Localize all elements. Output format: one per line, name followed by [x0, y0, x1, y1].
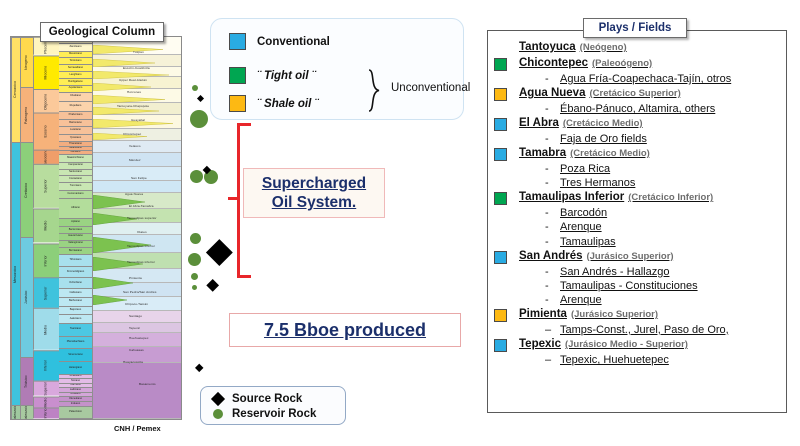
source-rock-diamond-icon [211, 392, 225, 406]
formation-label: Cahuasas [129, 349, 144, 352]
geo-cell: Aaleniano [59, 315, 93, 324]
play-header: Tantoyuca(Neógeno) [494, 41, 780, 56]
play-entry[interactable]: El Abra(Cretácico Medio)-Faja de Oro fie… [494, 117, 780, 146]
formation-label: San Felipe [131, 177, 147, 180]
play-swatch-icon [494, 309, 507, 322]
geo-cell: Hauteriviano [59, 234, 93, 241]
geo-cell: Bathoniano [59, 298, 93, 307]
play-entry[interactable]: Tantoyuca(Neógeno) [494, 41, 780, 56]
bracket-bottom-arm [237, 275, 251, 278]
field-name: Tamaulipas [560, 235, 616, 249]
geological-column-body: CenozoicoMesozoicoPaleozoico NeogenoPale… [10, 36, 182, 420]
supercharged-bracket [228, 123, 244, 278]
field-dash: - [545, 102, 560, 116]
field-dash: - [545, 265, 560, 279]
source-rock-marker [195, 364, 204, 373]
formation-label: Pimienta [129, 277, 142, 280]
formation-label: Tamaulipas superior [127, 217, 157, 220]
slide-root: Geological Column CenozoicoMesozoicoPale… [0, 0, 800, 446]
field-row: -Ébano-Pánuco, Altamira, others [545, 102, 780, 116]
field-dash: - [545, 206, 560, 220]
play-swatch-icon [494, 148, 507, 161]
formation-label: Velasco [129, 145, 141, 148]
geo-cell: Superior [33, 277, 59, 308]
geo-cell: Albiano [59, 199, 93, 220]
geo-cell: Lutetiano [59, 127, 93, 135]
play-swatch-icon [494, 58, 507, 71]
field-name: Ébano-Pánuco, Altamira, others [560, 102, 715, 116]
reservoir-rock-marker [190, 233, 201, 244]
geo-cell: Ypresiano [59, 135, 93, 143]
formation-label: Santiago [129, 315, 142, 318]
geological-column: Geological Column CenozoicoMesozoicoPale… [10, 22, 182, 420]
legend-item-reservoir-rock: Reservoir Rock [213, 408, 316, 420]
column-systems: NeogenoPaleogenoCretácicoJurásicoTriásic… [20, 37, 33, 419]
field-dash: - [545, 176, 560, 190]
formation-label: Tamaulipas inferior [127, 245, 155, 248]
play-header: Chicontepec(Paleoógeno) [494, 57, 780, 72]
shale-oil-swatch-icon [229, 95, 246, 112]
geo-cell: Bartoniano [59, 120, 93, 127]
field-dash: - [545, 132, 560, 146]
formation-label: Huayacocotla [123, 361, 143, 364]
formation-label: Tuxpan [133, 51, 144, 54]
lithostratigraphy-wedge [93, 107, 159, 115]
field-row: -Faja de Oro fields [545, 132, 780, 146]
geo-cell: Berriasiano [59, 248, 93, 256]
formation-label: Méndez [129, 159, 141, 162]
geo-cell: Tithoniano [59, 255, 93, 267]
supercharged-line-2: Oil System. [272, 193, 356, 212]
geo-cell: Calloviano [59, 289, 93, 298]
formation-label: Tamaulipas inferior [127, 261, 155, 264]
play-entry[interactable]: Tamabra(Cretácico Medio)-Poza Rica-Tres … [494, 147, 780, 190]
play-swatch-icon [494, 339, 507, 352]
lithostratigraphy-wedge [93, 83, 151, 91]
play-age: (Jurásico Superior) [571, 309, 658, 320]
field-name: Tres Hermanos [560, 176, 635, 190]
legend-label-conventional: Conventional [257, 36, 330, 48]
play-name: Agua Nueva(Cretácico Superior) [519, 87, 681, 99]
supercharged-oil-system-callout: Supercharged Oil System. [243, 168, 385, 218]
geo-cell: Aquitaniano [59, 86, 93, 93]
formation-label: Chipoco-Tamán [125, 303, 148, 306]
rock-type-legend: Source Rock Reservoir Rock [200, 386, 346, 425]
geological-column-credit: CNH / Pemex [114, 424, 161, 433]
geo-cell: Oxfordiano [59, 278, 93, 289]
play-name: Tamabra(Cretácico Medio) [519, 147, 650, 159]
geo-cell: Sinemuriano [59, 349, 93, 362]
reservoir-rock-marker [190, 170, 203, 183]
formation-label: Agua Nueva [125, 193, 143, 196]
bracket-vertical-line [237, 123, 240, 278]
field-name: Faja de Oro fields [560, 132, 647, 146]
oil-type-legend: Conventional ¨ Tight oil ¨ ¨ Shale oil ¨… [210, 18, 464, 120]
geo-cell: Campaniano [59, 163, 93, 170]
legend-item-tight-oil: ¨ Tight oil ¨ [229, 67, 316, 84]
play-swatch-icon [494, 251, 507, 264]
formation-label: Otates [137, 231, 147, 234]
play-header: Tamaulipas Inferior(Cretácico Inferior) [494, 191, 780, 206]
play-header: Pimienta(Jurásico Superior) [494, 308, 780, 323]
field-dash: – [545, 323, 560, 337]
geo-cell: Cenozoico [11, 37, 20, 142]
geo-cell: Santoniano [59, 170, 93, 177]
formation-label: San Pedro/San Andrés [123, 291, 156, 294]
play-header: Agua Nueva(Cretácico Superior) [494, 87, 780, 102]
column-eras: CenozoicoMesozoicoPaleozoico [11, 37, 20, 419]
geo-cell: Toarciano [59, 324, 93, 337]
play-header: San Andrés(Jurásico Superior) [494, 250, 780, 265]
field-name: Agua Fría-Coapechaca-Tajín, otros [560, 72, 731, 86]
formation-label: Tantoyuca-Chapopote [117, 105, 149, 108]
geo-cell: Mesozoico [11, 142, 20, 405]
geo-cell: Paleozoico [59, 407, 93, 419]
formation-label: Escolín-Coatzintla [123, 67, 150, 70]
formation-label: Guayabal [131, 119, 145, 122]
play-name: San Andrés(Jurásico Superior) [519, 250, 674, 262]
geo-cell: Zancleano [59, 44, 93, 52]
lithostratigraphy-band [93, 363, 181, 419]
play-name: Pimienta(Jurásico Superior) [519, 308, 658, 320]
play-age: (Neógeno) [580, 42, 627, 53]
carbonate-reef-wedge [93, 277, 133, 289]
field-name: San Andrés - Hallazgo [560, 265, 669, 279]
geo-cell: Tortoniano [59, 58, 93, 65]
lithostratigraphy-wedge [93, 45, 163, 54]
play-header: Tepexic(Jurásico Medio - Superior) [494, 338, 780, 353]
geo-cell: Chattiano [59, 93, 93, 102]
supercharged-line-1: Supercharged [262, 174, 366, 193]
play-entry[interactable]: Tamaulipas Inferior(Cretácico Inferior)-… [494, 191, 780, 248]
play-age: (Cretácico Inferior) [628, 192, 713, 203]
field-dash: - [545, 72, 560, 86]
geo-cell: Messiniano [59, 52, 93, 59]
field-row: -Arenque [545, 220, 780, 234]
field-row: –Tamps-Const., Jurel, Paso de Oro, [545, 323, 780, 337]
geo-cell: Hetangiano [59, 362, 93, 375]
formation-label: Tepexic [129, 327, 140, 330]
reservoir-rock-marker [188, 253, 201, 266]
legend-label-source-rock: Source Rock [232, 393, 302, 405]
bracket-middle-tick [228, 197, 239, 200]
play-entry[interactable]: Chicontepec(Paleoógeno)-Agua Fría-Coapec… [494, 57, 780, 86]
conventional-swatch-icon [229, 33, 246, 50]
play-name: Tamaulipas Inferior(Cretácico Inferior) [519, 191, 713, 203]
field-dash: – [545, 353, 560, 367]
geo-cell: Paleogeno [20, 87, 33, 142]
produced-volume-text: 7.5 Bboe produced [264, 320, 426, 341]
geo-cell: Coniaciano [59, 176, 93, 183]
produced-volume-callout: 7.5 Bboe produced [229, 313, 461, 347]
geo-cell: Burdigaliano [59, 79, 93, 86]
geo-cell: Superior [33, 164, 59, 208]
legend-item-shale-oil: ¨ Shale oil ¨ [229, 95, 318, 112]
geological-column-title: Geological Column [40, 22, 164, 42]
geo-cell: Turoniano [59, 183, 93, 191]
field-row: -San Andrés - Hallazgo [545, 265, 780, 279]
play-swatch-icon [494, 192, 507, 205]
plays-fields-panel: Tantoyuca(Neógeno)Chicontepec(Paleoógeno… [487, 30, 787, 413]
play-age: (Jurásico Medio - Superior) [565, 339, 688, 350]
legend-item-source-rock: Source Rock [213, 393, 302, 405]
play-header: El Abra(Cretácico Medio) [494, 117, 780, 132]
geo-cell: Valanginiano [59, 241, 93, 248]
play-name: Chicontepec(Paleoógeno) [519, 57, 652, 69]
source-rock-marker [197, 95, 204, 102]
field-name: Tamaulipas - Constituciones [560, 279, 698, 293]
lithostratigraphy-wedge [93, 95, 165, 104]
play-age: (Cretácico Medio) [570, 148, 650, 159]
carbonate-reef-wedge [93, 295, 127, 305]
formation-label: El Abra-Tamabra [129, 205, 154, 208]
geo-cell: Medio [33, 308, 59, 350]
column-lithostratigraphy: TuxpanEscolín-CoatzintlaUpper Real-Alazá… [93, 37, 181, 419]
geo-cell: Oligoceno [33, 89, 59, 113]
geo-cell: Superior [33, 381, 59, 396]
geo-cell: Paleozoico [20, 405, 33, 419]
geo-cell: Medio [33, 396, 59, 407]
reservoir-rock-marker [191, 273, 198, 280]
field-name: Tepexic, Huehuetepec [560, 353, 669, 367]
legend-item-conventional: Conventional [229, 33, 330, 50]
geo-cell: Maastrichtiano [59, 155, 93, 163]
geo-cell: Inferior [33, 350, 59, 381]
field-dash: - [545, 235, 560, 249]
geo-cell: Barremiano [59, 227, 93, 234]
field-name: Tamps-Const., Jurel, Paso de Oro, [560, 323, 729, 337]
reservoir-rock-marker [190, 110, 208, 128]
field-row: -Tamaulipas - Constituciones [545, 279, 780, 293]
play-swatch-icon [494, 88, 507, 101]
geo-cell: Cretácico [20, 142, 33, 237]
play-name: Tantoyuca(Neógeno) [519, 41, 627, 53]
reservoir-rock-marker [192, 85, 198, 91]
play-age: (Paleoógeno) [592, 58, 652, 69]
geo-cell: Paleozoico [11, 405, 20, 419]
field-row: -Tamaulipas [545, 235, 780, 249]
play-swatch-placeholder [494, 42, 507, 55]
field-row: -Agua Fría-Coapechaca-Tajín, otros [545, 72, 780, 86]
field-row: -Tres Hermanos [545, 176, 780, 190]
legend-label-unconventional: Unconventional [391, 82, 470, 94]
play-swatch-icon [494, 118, 507, 131]
field-name: Arenque [560, 293, 602, 307]
field-row: -Barcodón [545, 206, 780, 220]
unconventional-brace-icon [366, 69, 382, 112]
play-age: (Jurásico Superior) [586, 251, 673, 262]
field-name: Barcodón [560, 206, 607, 220]
play-entry[interactable]: Pimienta(Jurásico Superior)–Tamps-Const.… [494, 308, 780, 337]
play-age: (Cretácico Medio) [563, 118, 643, 129]
field-dash: - [545, 162, 560, 176]
geo-cell: Pliensbachiano [59, 337, 93, 350]
formation-label: Horcones [127, 91, 141, 94]
geo-cell: Rupeliano [59, 102, 93, 112]
geo-cell: Neogeno [20, 37, 33, 87]
play-name: Tepexic(Jurásico Medio - Superior) [519, 338, 688, 350]
geo-cell: Medio [33, 208, 59, 242]
geo-cell: Kimmeridgiano [59, 267, 93, 278]
geo-cell: Langhiano [59, 72, 93, 79]
geo-cell: Eoceno [33, 113, 59, 150]
field-dash: - [545, 220, 560, 234]
geo-cell: Mioceno [33, 55, 59, 89]
field-name: Poza Rica [560, 162, 610, 176]
geo-cell: Jurásico [20, 237, 33, 357]
formation-label: Upper Real-Alazán [119, 79, 147, 82]
play-name: El Abra(Cretácico Medio) [519, 117, 643, 129]
geo-cell: Priaboniano [59, 112, 93, 120]
rock-marker-column [182, 85, 228, 385]
plays-fields-title: Plays / Fields [583, 18, 687, 38]
column-series: PliocenoMiocenoOligocenoEocenoPaleocenoS… [33, 37, 59, 419]
field-dash: - [545, 279, 560, 293]
geo-cell: Serravalliano [59, 65, 93, 72]
geo-cell: Cenomaniano [59, 191, 93, 199]
geo-cell: Paleoceno [33, 150, 59, 165]
field-dash: - [545, 293, 560, 307]
play-age: (Cretácico Superior) [589, 88, 680, 99]
geo-cell: Triásico [20, 357, 33, 405]
legend-label-tight-oil: ¨ Tight oil ¨ [257, 70, 316, 82]
formation-label: Huehuetepec [129, 337, 149, 340]
legend-label-reservoir-rock: Reservoir Rock [232, 408, 316, 420]
column-stages: PiacenzianoZancleanoMessinianoTortoniano… [59, 37, 93, 419]
play-entry[interactable]: Tepexic(Jurásico Medio - Superior)–Tepex… [494, 338, 780, 367]
reservoir-rock-marker [192, 285, 197, 290]
geo-cell: Bajociano [59, 307, 93, 316]
field-name: Arenque [560, 220, 602, 234]
play-entry[interactable]: Agua Nueva(Cretácico Superior)-Ébano-Pán… [494, 87, 780, 116]
bracket-top-arm [237, 123, 251, 126]
tight-oil-swatch-icon [229, 67, 246, 84]
field-row: -Poza Rica [545, 162, 780, 176]
field-row: -Arenque [545, 293, 780, 307]
legend-label-shale-oil: ¨ Shale oil ¨ [257, 98, 318, 110]
geo-cell: Aptiano [59, 219, 93, 227]
play-header: Tamabra(Cretácico Medio) [494, 147, 780, 162]
field-row: –Tepexic, Huehuetepec [545, 353, 780, 367]
formation-label: Basamento [139, 383, 156, 386]
geo-cell: Inferior [33, 243, 59, 277]
source-rock-marker [206, 279, 219, 292]
play-entry[interactable]: San Andrés(Jurásico Superior)-San Andrés… [494, 250, 780, 307]
reservoir-rock-circle-icon [213, 409, 223, 419]
formation-label: Chicontepec [123, 133, 141, 136]
geo-cell: Inferior [33, 407, 59, 418]
